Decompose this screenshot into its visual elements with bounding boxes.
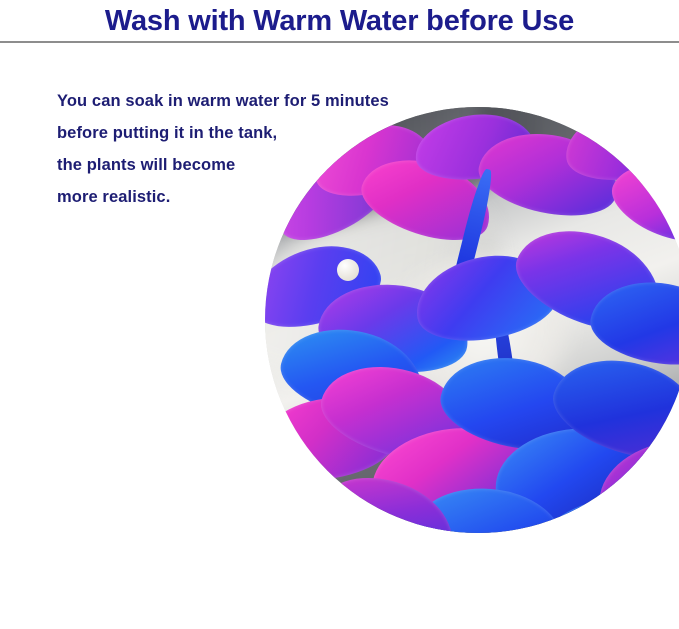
care-instruction-panel: Wash with Warm Water before Use bbox=[0, 0, 679, 629]
instruction-line: You can soak in warm water for 5 minutes bbox=[57, 85, 389, 117]
instruction-line: before putting it in the tank, bbox=[57, 117, 389, 149]
instruction-text-block: You can soak in warm water for 5 minutes… bbox=[57, 85, 389, 213]
instruction-line: more realistic. bbox=[57, 181, 389, 213]
panel-header: Wash with Warm Water before Use bbox=[0, 0, 679, 41]
page-title: Wash with Warm Water before Use bbox=[105, 4, 574, 38]
plant-bud bbox=[337, 259, 359, 281]
header-divider bbox=[0, 41, 679, 43]
instruction-line: the plants will become bbox=[57, 149, 389, 181]
